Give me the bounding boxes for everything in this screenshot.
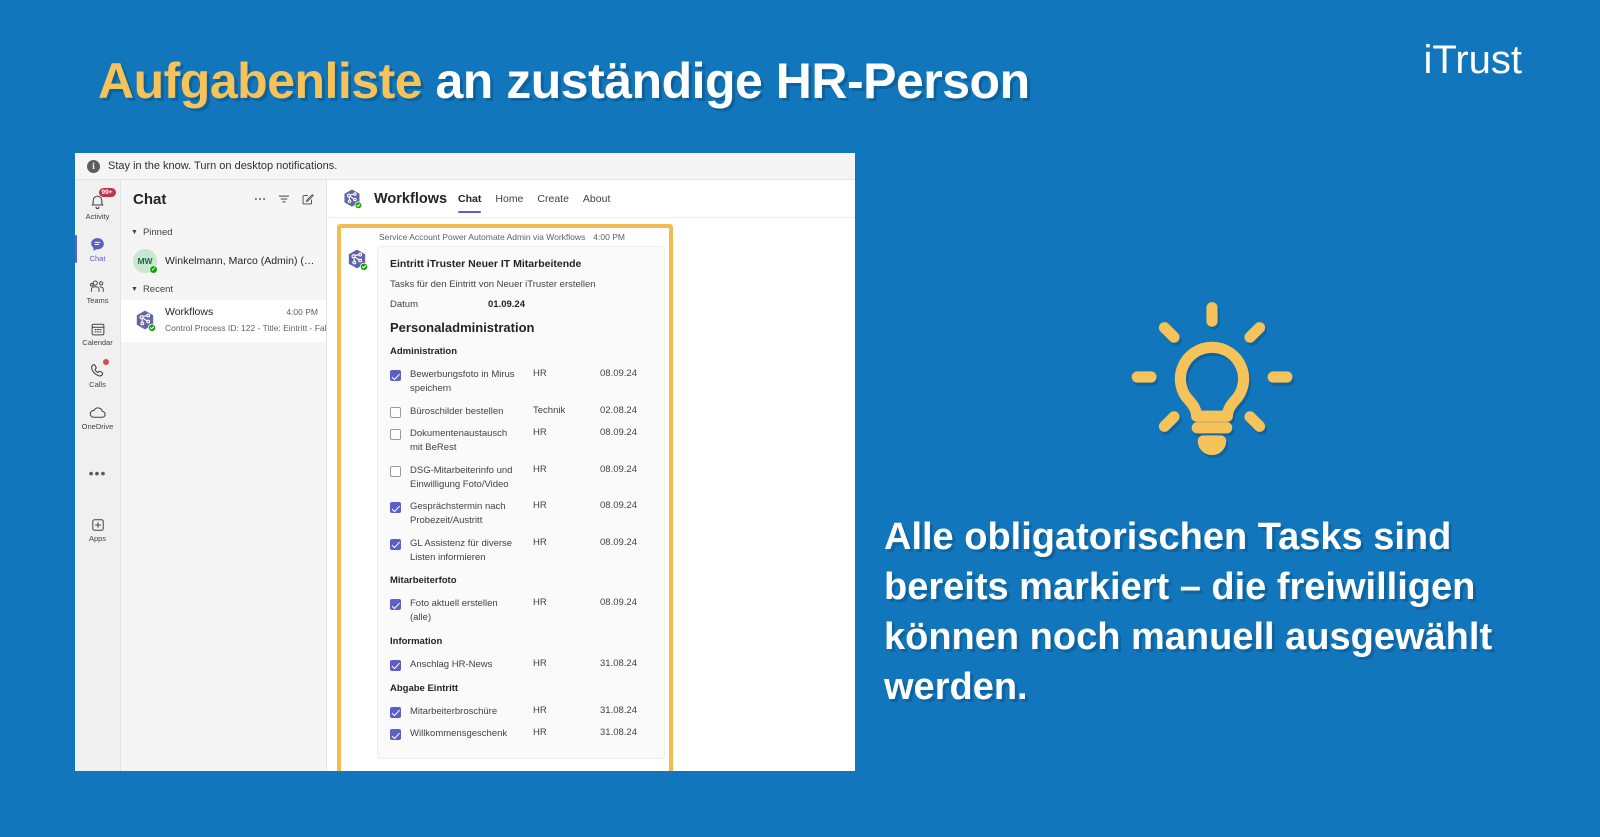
task-owner: HR (533, 727, 591, 738)
rail-item-onedrive[interactable]: OneDrive (75, 396, 121, 438)
rail-label-calendar: Calendar (82, 339, 112, 347)
rail-label-onedrive: OneDrive (82, 423, 114, 431)
conversation-tabs: Chat Home Create About (458, 180, 610, 218)
task-section-title: Abgabe Eintritt (390, 683, 652, 694)
task-owner: HR (533, 705, 591, 716)
rail-label-apps: Apps (89, 535, 106, 543)
task-checkbox[interactable] (390, 707, 401, 718)
people-icon (89, 278, 107, 296)
task-checkbox[interactable] (390, 599, 401, 610)
task-checkbox[interactable] (390, 429, 401, 440)
task-date: 08.09.24 (600, 500, 652, 511)
task-section-title: Information (390, 636, 652, 647)
rail-item-calls[interactable]: Calls (75, 354, 121, 396)
task-owner: HR (533, 658, 591, 669)
task-date: 31.08.24 (600, 727, 652, 738)
rail-item-activity[interactable]: 99+ Activity (75, 186, 121, 228)
filter-icon[interactable] (276, 191, 292, 207)
task-date: 08.09.24 (600, 597, 652, 608)
chevron-down-icon: ▼ (131, 229, 138, 236)
workflows-app-icon (133, 309, 157, 333)
chat-group-recent[interactable]: ▼ Recent (121, 279, 326, 300)
conversation-title: Workflows (374, 191, 447, 207)
task-checkbox[interactable] (390, 466, 401, 477)
date-label: Datum (390, 299, 488, 310)
task-row: GL Assistenz für diverse Listen informie… (390, 533, 652, 570)
info-icon: i (87, 160, 100, 173)
date-value: 01.09.24 (488, 299, 525, 310)
task-date: 08.09.24 (600, 427, 652, 438)
task-name: Dokumentenaustausch mit BeRest (410, 427, 524, 455)
task-date: 08.09.24 (600, 537, 652, 548)
task-row: Bewerbungsfoto in Mirus speichernHR08.09… (390, 364, 652, 401)
task-card-subtitle: Tasks für den Eintritt von Neuer iTruste… (390, 279, 652, 290)
itrust-logo: iTrust (1423, 40, 1522, 80)
task-owner: HR (533, 500, 591, 511)
teams-window: i Stay in the know. Turn on desktop noti… (75, 153, 855, 771)
task-owner: HR (533, 368, 591, 379)
chat-item-time: 4:00 PM (286, 307, 318, 317)
task-row: Dokumentenaustausch mit BeRestHR08.09.24 (390, 423, 652, 460)
task-name: Willkommensgeschenk (410, 727, 524, 741)
conversation-header: Workflows Chat Home Create About (327, 180, 855, 218)
task-date: 08.09.24 (600, 464, 652, 475)
task-name: DSG-Mitarbeiterinfo und Einwilligung Fot… (410, 464, 524, 492)
task-row: Foto aktuell erstellen (alle)HR08.09.24 (390, 593, 652, 630)
message: Service Account Power Automate Admin via… (345, 232, 665, 759)
task-card: Eintritt iTruster Neuer IT Mitarbeitende… (377, 246, 665, 759)
chat-list-panel: Chat (121, 180, 327, 771)
calls-unread-dot (103, 359, 109, 365)
task-card-heading: Personaladministration (390, 320, 652, 335)
chat-list-item-winkelmann[interactable]: MW ✓ Winkelmann, Marco (Admin) (You) (121, 243, 326, 279)
tab-chat[interactable]: Chat (458, 180, 481, 218)
task-checkbox[interactable] (390, 660, 401, 671)
slide-canvas: Aufgabenliste an zuständige HR-Person iT… (0, 0, 1600, 837)
workflows-app-icon (345, 248, 369, 272)
task-owner: HR (533, 597, 591, 608)
compose-chat-icon[interactable] (300, 191, 316, 207)
task-row: Büroschilder bestellenTechnik02.08.24 (390, 401, 652, 424)
more-dots-icon: ••• (89, 464, 107, 482)
tab-create[interactable]: Create (537, 180, 569, 218)
avatar-initials: MW (137, 256, 152, 266)
apps-plus-icon (90, 516, 106, 534)
more-options-icon[interactable] (252, 191, 268, 207)
task-name: Mitarbeiterbroschüre (410, 705, 524, 719)
chat-item-row: Winkelmann, Marco (Admin) (You) (165, 255, 318, 267)
conversation-body: Service Account Power Automate Admin via… (327, 218, 855, 771)
rail-item-chat[interactable]: Chat (75, 228, 121, 270)
chevron-down-icon: ▼ (131, 286, 138, 293)
app-rail: 99+ Activity Chat (75, 180, 121, 771)
chat-item-meta: Winkelmann, Marco (Admin) (You) (165, 255, 318, 267)
task-name: Foto aktuell erstellen (alle) (410, 597, 524, 625)
page-title-accent: Aufgabenliste (98, 53, 422, 109)
activity-badge: 99+ (99, 188, 116, 197)
workflows-app-icon (341, 188, 363, 210)
chat-group-label-pinned: Pinned (143, 227, 173, 238)
task-name: GL Assistenz für diverse Listen informie… (410, 537, 524, 565)
chat-item-preview: Control Process ID: 122 - Title: Eintrit… (165, 323, 334, 333)
task-owner: HR (533, 427, 591, 438)
task-row: Gesprächstermin nach Probezeit/AustrittH… (390, 496, 652, 533)
chat-group-pinned[interactable]: ▼ Pinned (121, 222, 326, 243)
page-title: Aufgabenliste an zuständige HR-Person (98, 52, 1030, 110)
message-row: Eintritt iTruster Neuer IT Mitarbeitende… (345, 246, 665, 759)
chat-item-name: Workflows (165, 306, 280, 318)
chat-list-body: ▼ Pinned MW ✓ Winkelmann, Marco (Admin) … (121, 218, 326, 771)
task-row: MitarbeiterbroschüreHR31.08.24 (390, 701, 652, 724)
lightbulb-icon (1122, 296, 1302, 476)
notification-text: Stay in the know. Turn on desktop notifi… (108, 160, 337, 172)
task-card-title: Eintritt iTruster Neuer IT Mitarbeitende (390, 258, 652, 270)
task-date: 02.08.24 (600, 405, 652, 416)
rail-item-calendar[interactable]: Calendar (75, 312, 121, 354)
task-row: DSG-Mitarbeiterinfo und Einwilligung Fot… (390, 460, 652, 497)
message-header: Service Account Power Automate Admin via… (379, 232, 665, 242)
rail-item-apps[interactable]: Apps (75, 508, 121, 550)
task-checkbox[interactable] (390, 502, 401, 513)
task-date: 31.08.24 (600, 658, 652, 669)
task-owner: HR (533, 464, 591, 475)
chat-list-item-workflows[interactable]: Workflows 4:00 PM Control Process ID: 12… (121, 300, 326, 342)
avatar: MW ✓ (133, 249, 157, 273)
task-sections: AdministrationBewerbungsfoto in Mirus sp… (390, 346, 652, 746)
task-name: Büroschilder bestellen (410, 405, 524, 419)
task-checkbox[interactable] (390, 729, 401, 740)
message-time: 4:00 PM (593, 232, 625, 242)
task-checkbox[interactable] (390, 407, 401, 418)
page-title-rest: an zuständige HR-Person (422, 53, 1030, 109)
task-card-date-row: Datum 01.09.24 (390, 299, 652, 310)
desktop-notification-banner[interactable]: i Stay in the know. Turn on desktop noti… (75, 153, 855, 180)
chat-item-row: Workflows 4:00 PM (165, 306, 318, 318)
rail-label-calls: Calls (89, 381, 106, 389)
chat-item-meta: Workflows 4:00 PM Control Process ID: 12… (165, 306, 318, 336)
task-name: Bewerbungsfoto in Mirus speichern (410, 368, 524, 396)
tab-home[interactable]: Home (495, 180, 523, 218)
rail-item-teams[interactable]: Teams (75, 270, 121, 312)
chat-bubble-icon (89, 236, 106, 254)
rail-label-teams: Teams (86, 297, 108, 305)
tab-about[interactable]: About (583, 180, 610, 218)
task-name: Anschlag HR-News (410, 658, 524, 672)
presence-available-icon: ✓ (149, 265, 158, 274)
conversation-panel: Workflows Chat Home Create About Service… (327, 180, 855, 771)
calendar-icon (90, 320, 106, 338)
chat-list-title: Chat (133, 191, 244, 208)
rail-label-chat: Chat (90, 255, 106, 263)
task-row: WillkommensgeschenkHR31.08.24 (390, 723, 652, 746)
task-section-title: Administration (390, 346, 652, 357)
task-checkbox[interactable] (390, 539, 401, 550)
chat-item-name: Winkelmann, Marco (Admin) (You) (165, 255, 318, 267)
body-copy: Alle obligatorischen Tasks sind bereits … (884, 512, 1556, 713)
task-date: 08.09.24 (600, 368, 652, 379)
cloud-icon (88, 404, 107, 422)
task-section-title: Mitarbeiterfoto (390, 575, 652, 586)
task-owner: Technik (533, 405, 591, 416)
task-checkbox[interactable] (390, 370, 401, 381)
task-name: Gesprächstermin nach Probezeit/Austritt (410, 500, 524, 528)
message-sender: Service Account Power Automate Admin via… (379, 232, 585, 242)
chat-group-label-recent: Recent (143, 284, 173, 295)
rail-label-activity: Activity (86, 213, 110, 221)
chat-list-header: Chat (121, 180, 326, 218)
task-row: Anschlag HR-NewsHR31.08.24 (390, 654, 652, 677)
rail-item-more[interactable]: ••• (75, 452, 121, 494)
task-owner: HR (533, 537, 591, 548)
task-date: 31.08.24 (600, 705, 652, 716)
